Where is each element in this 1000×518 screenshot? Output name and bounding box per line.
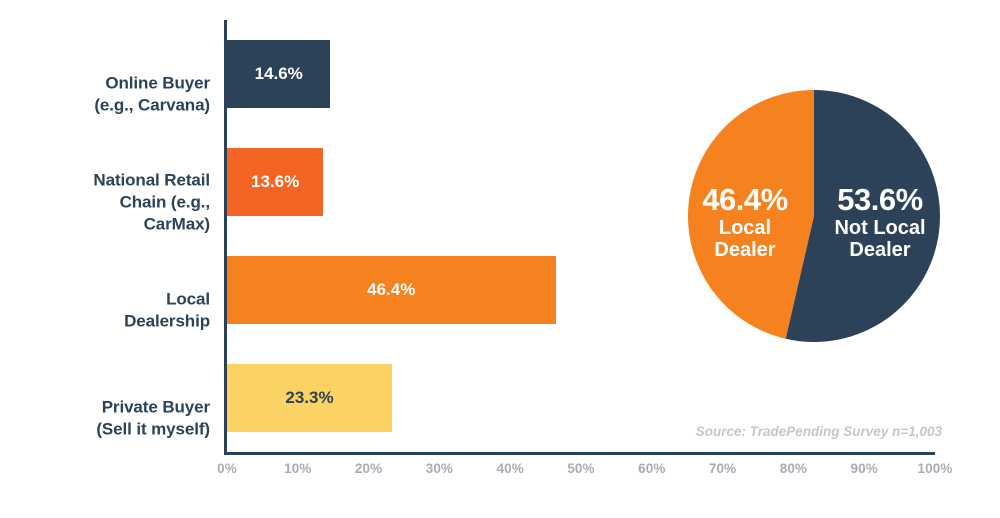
- bar-national-retail-chain[interactable]: 13.6%: [227, 148, 323, 216]
- x-tick-label: 20%: [334, 461, 404, 476]
- category-line: National Retail: [93, 170, 210, 189]
- x-tick-label: 70%: [688, 461, 758, 476]
- pie-label-local-dealer: 46.4% Local Dealer: [680, 184, 810, 261]
- x-tick-label: 90%: [829, 461, 899, 476]
- x-tick-label: 10%: [263, 461, 333, 476]
- bar-category-label: Local Dealership: [30, 288, 210, 332]
- pie-name-line: Local: [680, 218, 810, 239]
- pie-name-line: Dealer: [680, 240, 810, 261]
- x-tick-label: 0%: [192, 461, 262, 476]
- x-tick-label: 40%: [475, 461, 545, 476]
- category-line: Local: [166, 289, 210, 308]
- category-line: (Sell it myself): [96, 419, 210, 438]
- bar-value-label: 23.3%: [285, 388, 333, 408]
- x-tick-label: 100%: [900, 461, 970, 476]
- pie-chart: 46.4% Local Dealer 53.6% Not Local Deale…: [688, 90, 940, 342]
- category-line: Dealership: [124, 311, 210, 330]
- bar-value-label: 13.6%: [251, 172, 299, 192]
- category-line: Private Buyer: [102, 397, 210, 416]
- bar-category-label: Private Buyer (Sell it myself): [30, 396, 210, 440]
- bar-online-buyer[interactable]: 14.6%: [227, 40, 330, 108]
- category-line: (e.g., Carvana): [94, 95, 210, 114]
- x-tick-label: 80%: [758, 461, 828, 476]
- bar-category-axis: Online Buyer (e.g., Carvana) National Re…: [30, 20, 210, 452]
- bar-category-label: Online Buyer (e.g., Carvana): [30, 72, 210, 116]
- bar-chart: Online Buyer (e.g., Carvana) National Re…: [0, 0, 660, 518]
- bar-private-buyer[interactable]: 23.3%: [227, 364, 392, 432]
- category-line: CarMax): [144, 214, 210, 233]
- x-tick-label: 30%: [404, 461, 474, 476]
- x-tick-label: 60%: [617, 461, 687, 476]
- pie-value-label: 53.6%: [810, 184, 950, 217]
- source-note: Source: TradePending Survey n=1,003: [696, 424, 942, 439]
- pie-name-line: Dealer: [810, 240, 950, 261]
- pie-value-label: 46.4%: [680, 184, 810, 217]
- chart-figure: Online Buyer (e.g., Carvana) National Re…: [0, 0, 1000, 518]
- x-axis-line: [224, 452, 935, 455]
- x-axis-tick-labels: 0%10%20%30%40%50%60%70%80%90%100%: [227, 461, 935, 491]
- bar-value-label: 46.4%: [367, 280, 415, 300]
- pie-name-line: Not Local: [810, 218, 950, 239]
- bar-local-dealership[interactable]: 46.4%: [227, 256, 556, 324]
- category-line: Chain (e.g.,: [120, 192, 210, 211]
- x-tick-label: 50%: [546, 461, 616, 476]
- pie-label-not-local-dealer: 53.6% Not Local Dealer: [810, 184, 950, 261]
- category-line: Online Buyer: [105, 73, 210, 92]
- bar-category-label: National Retail Chain (e.g., CarMax): [30, 169, 210, 234]
- bar-value-label: 14.6%: [255, 64, 303, 84]
